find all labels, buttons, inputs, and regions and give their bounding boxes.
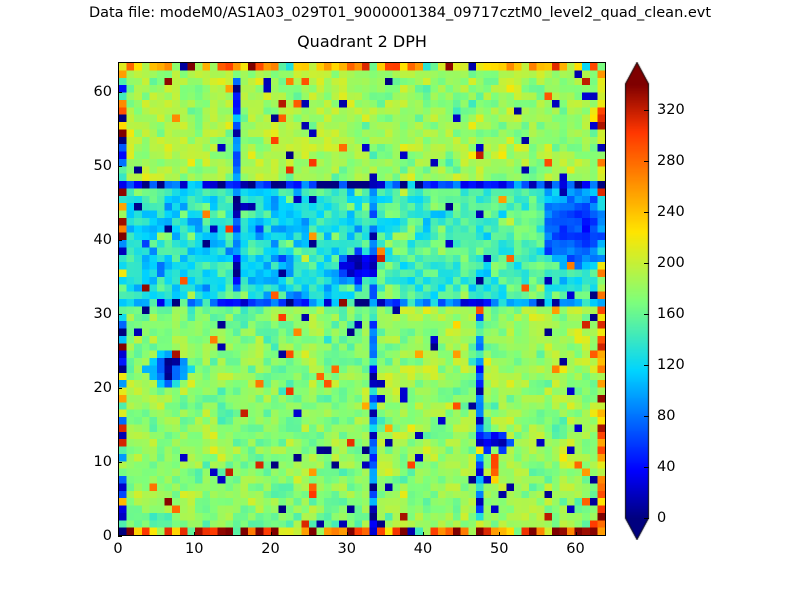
colorbar-tick-label: 240 [657,204,685,220]
y-tick-mark [118,536,122,537]
y-tick-mark [118,388,122,389]
x-tick-mark [347,532,348,536]
colorbar-tick-label: 200 [657,255,685,271]
y-tick-label: 10 [84,454,112,470]
x-tick-mark [499,532,500,536]
y-tick-mark [118,314,122,315]
heatmap-plot-area [118,62,606,536]
colorbar-tick-label: 40 [657,459,675,475]
y-tick-label: 30 [84,306,112,322]
x-tick-mark [271,532,272,536]
colorbar-tick-label: 120 [657,357,685,373]
figure-suptitle: Data file: modeM0/AS1A03_029T01_90000013… [0,5,800,21]
y-tick-mark [118,240,122,241]
x-tick-label: 20 [261,541,279,557]
x-tick-label: 30 [338,541,356,557]
y-tick-label: 60 [84,84,112,100]
y-tick-label: 20 [84,380,112,396]
y-tick-mark [118,166,122,167]
colorbar-tick-mark [644,110,649,111]
y-tick-label: 50 [84,158,112,174]
colorbar-tick-mark [644,263,649,264]
x-tick-label: 50 [490,541,508,557]
axes-title: Quadrant 2 DPH [118,32,606,51]
colorbar-tick-mark [644,161,649,162]
colorbar-tick-label: 160 [657,306,685,322]
colorbar-tick-mark [644,212,649,213]
colorbar-tick-label: 320 [657,102,685,118]
y-tick-mark [118,92,122,93]
heatmap-image [119,63,605,535]
x-tick-mark [194,532,195,536]
colorbar-tick-mark [644,416,649,417]
colorbar-tick-mark [644,314,649,315]
x-tick-label: 10 [185,541,203,557]
figure-canvas: Data file: modeM0/AS1A03_029T01_90000013… [0,0,800,600]
y-tick-label: 40 [84,232,112,248]
colorbar-gradient [624,62,650,540]
colorbar-tick-label: 280 [657,153,685,169]
x-tick-label: 0 [113,541,122,557]
colorbar [624,62,650,540]
colorbar-tick-label: 80 [657,408,675,424]
x-tick-label: 40 [414,541,432,557]
x-tick-mark [423,532,424,536]
colorbar-tick-mark [644,518,649,519]
colorbar-tick-mark [644,365,649,366]
colorbar-tick-mark [644,467,649,468]
x-tick-label: 60 [566,541,584,557]
y-tick-mark [118,462,122,463]
y-tick-label: 0 [84,528,112,544]
colorbar-tick-label: 0 [657,510,666,526]
x-tick-mark [576,532,577,536]
